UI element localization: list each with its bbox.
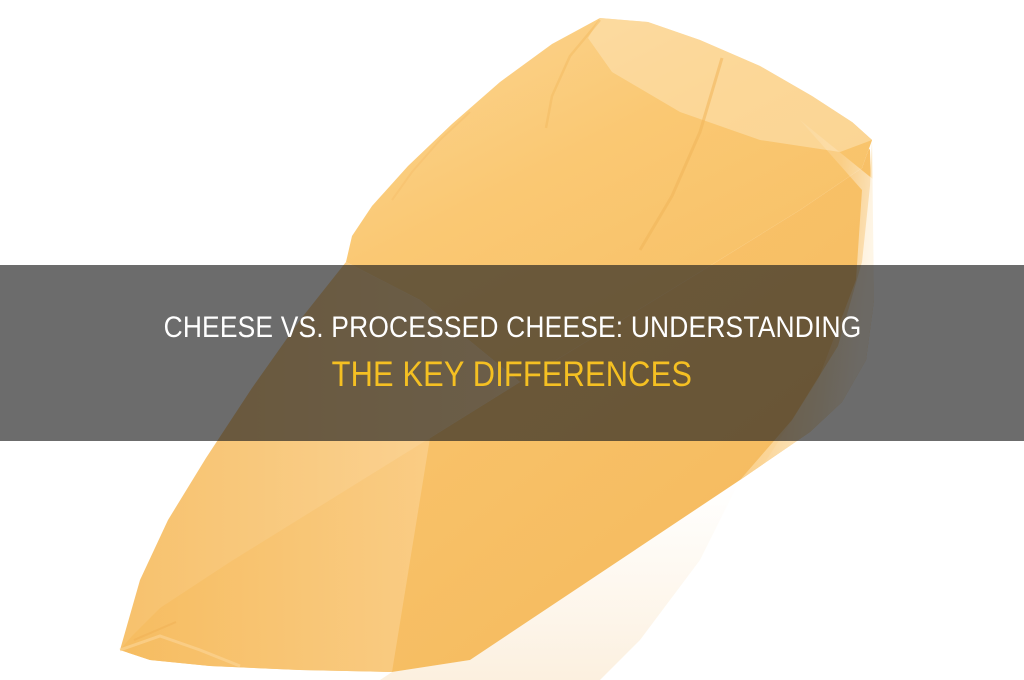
screenshot-canvas: CHEESE VS. PROCESSED CHEESE: UNDERSTANDI… [0,0,1024,680]
caption-headline-line-1: CHEESE VS. PROCESSED CHEESE: UNDERSTANDI… [163,308,861,348]
caption-overlay-band: CHEESE VS. PROCESSED CHEESE: UNDERSTANDI… [0,265,1024,441]
caption-headline-line-2: THE KEY DIFFERENCES [332,352,692,398]
